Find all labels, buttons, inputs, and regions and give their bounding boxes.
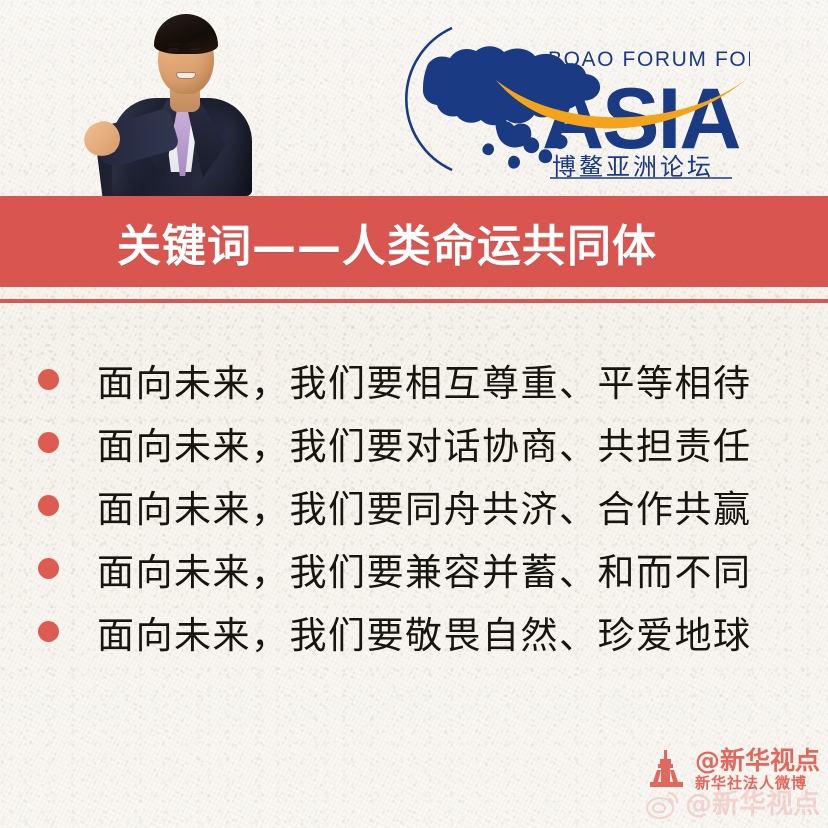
list-item-label: 面向未来，我们要同舟共济、合作共赢 xyxy=(97,479,752,533)
portrait-eye-left xyxy=(168,48,179,52)
portrait-eye-right xyxy=(190,48,201,52)
list-item: 面向未来，我们要同舟共济、合作共赢 xyxy=(0,474,828,537)
weibo-eye-icon xyxy=(645,790,679,820)
weibo-ghost-label: @新华视点 xyxy=(685,791,820,819)
list-item: 面向未来，我们要对话协商、共担责任 xyxy=(0,411,828,474)
portrait-fade xyxy=(88,180,270,196)
bullet-list: 面向未来，我们要相互尊重、平等相待 面向未来，我们要对话协商、共担责任 面向未来… xyxy=(0,348,828,663)
list-item: 面向未来，我们要相互尊重、平等相待 xyxy=(0,348,828,411)
page-title: 关键词——人类命运共同体 xyxy=(117,210,657,274)
bullet-dot-icon xyxy=(38,432,59,453)
list-item-label: 面向未来，我们要相互尊重、平等相待 xyxy=(97,353,752,407)
watermark-title: @新华视点 xyxy=(695,748,820,774)
title-banner: 关键词——人类命运共同体 xyxy=(0,196,828,287)
logo-line1: BOAO FORUM FOR xyxy=(548,48,750,71)
list-item-label: 面向未来，我们要敬畏自然、珍爱地球 xyxy=(97,605,752,659)
list-item: 面向未来，我们要敬畏自然、珍爱地球 xyxy=(0,600,828,663)
portrait-mouth xyxy=(176,72,196,79)
xinhua-monument-icon xyxy=(645,748,689,792)
bullet-dot-icon xyxy=(38,495,59,516)
header: BOAO FORUM FOR ASIA 博鳌亚洲论坛 xyxy=(0,0,828,196)
bullet-dot-icon xyxy=(38,621,59,642)
divider-rule xyxy=(0,299,828,303)
boao-forum-logo: BOAO FORUM FOR ASIA 博鳌亚洲论坛 xyxy=(400,18,750,180)
poster-canvas: BOAO FORUM FOR ASIA 博鳌亚洲论坛 关键词——人类命运共同体 … xyxy=(0,0,828,828)
watermark-text-block: @新华视点 新华社法人微博 xyxy=(695,748,820,792)
weibo-ghost-watermark: @新华视点 xyxy=(645,790,820,820)
list-item: 面向未来，我们要兼容并蓄、和而不同 xyxy=(0,537,828,600)
bullet-dot-icon xyxy=(38,558,59,579)
list-item-label: 面向未来，我们要兼容并蓄、和而不同 xyxy=(97,542,752,596)
logo-line3: 博鳌亚洲论坛 xyxy=(552,153,714,180)
bullet-dot-icon xyxy=(38,369,59,390)
speaker-portrait xyxy=(88,2,270,196)
publisher-watermark: @新华视点 新华社法人微博 xyxy=(645,748,820,792)
list-item-label: 面向未来，我们要对话协商、共担责任 xyxy=(97,416,752,470)
portrait-hair xyxy=(154,14,218,54)
